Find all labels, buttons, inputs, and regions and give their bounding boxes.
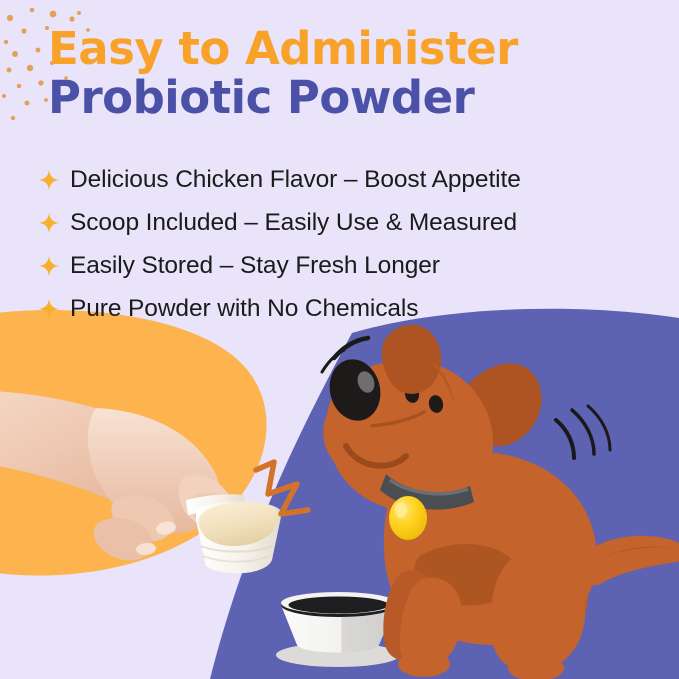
dog-tag-icon [389,496,427,540]
dog-bowl-illustration [276,592,400,667]
bowl-inner [289,597,389,614]
list-item: Pure Powder with No Chemicals [38,287,648,330]
list-item-label: Scoop Included – Easily Use & Measured [70,209,517,237]
product-infographic: Easy to Administer Probiotic Powder Deli… [0,0,679,679]
infographic-artwork [0,0,679,679]
list-item-label: Delicious Chicken Flavor – Boost Appetit… [70,166,521,194]
sparkle-four-point-star-icon [38,169,60,191]
sparkle-four-point-star-icon [38,298,60,320]
list-item: Easily Stored – Stay Fresh Longer [38,244,648,287]
list-item: Delicious Chicken Flavor – Boost Appetit… [38,158,648,201]
sparkle-four-point-star-icon [38,255,60,277]
list-item-label: Easily Stored – Stay Fresh Longer [70,252,440,280]
list-item: Scoop Included – Easily Use & Measured [38,201,648,244]
feature-bullet-list: Delicious Chicken Flavor – Boost Appetit… [38,158,648,330]
sparkle-four-point-star-icon [38,212,60,234]
list-item-label: Pure Powder with No Chemicals [70,295,418,323]
dog-front-paw [398,651,450,677]
